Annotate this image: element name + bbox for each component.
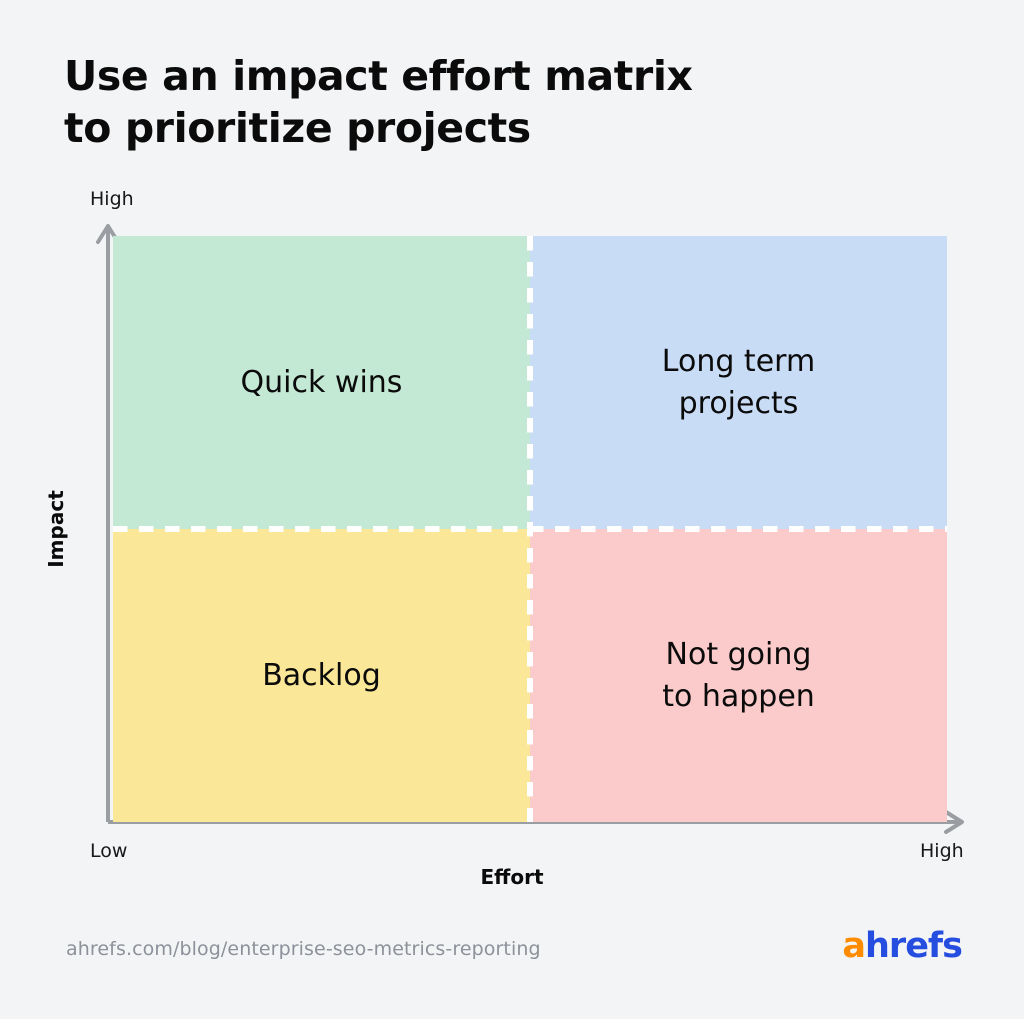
infographic-canvas: Use an impact effort matrix to prioritiz… [0, 0, 1024, 1019]
source-url[interactable]: ahrefs.com/blog/enterprise-seo-metrics-r… [66, 938, 541, 960]
x-axis-low-label: Low [90, 840, 127, 862]
horizontal-divider [113, 526, 947, 532]
logo-text-hrefs: hrefs [865, 926, 962, 966]
logo-letter-a: a [842, 926, 865, 966]
quadrant-not-going-to-happen[interactable]: Not going to happen [530, 529, 947, 822]
quadrant-quick-wins[interactable]: Quick wins [113, 236, 530, 529]
quadrant-backlog[interactable]: Backlog [113, 529, 530, 822]
y-axis-high-label: High [90, 188, 134, 210]
page-title: Use an impact effort matrix to prioritiz… [64, 50, 844, 155]
x-axis-title: Effort [0, 865, 1024, 889]
x-axis-high-label: High [920, 840, 964, 862]
y-axis-title: Impact [44, 490, 68, 568]
ahrefs-logo[interactable]: ahrefs [842, 929, 962, 964]
quadrant-long-term-projects[interactable]: Long term projects [530, 236, 947, 529]
